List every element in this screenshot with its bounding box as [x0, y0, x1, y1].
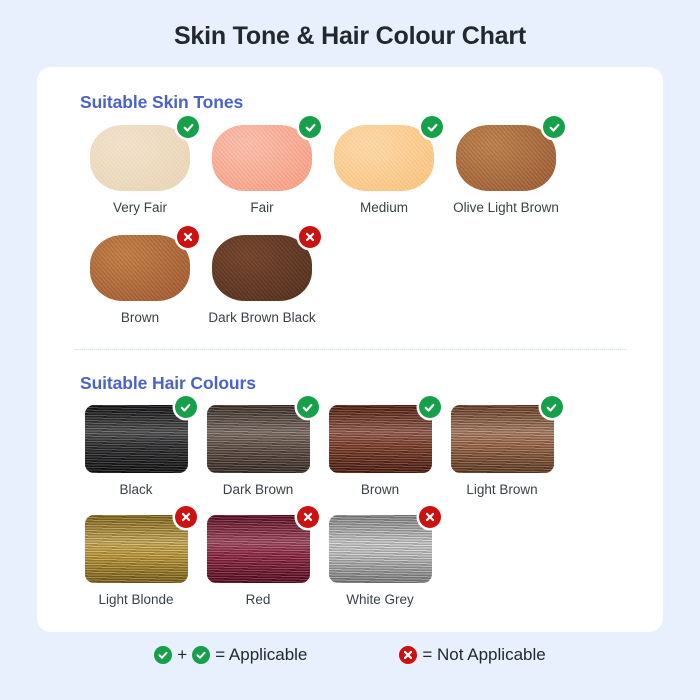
skin-tone-swatch[interactable] [212, 235, 312, 301]
swatch-wrapper [329, 515, 432, 583]
cross-icon [297, 506, 319, 528]
check-icon [543, 116, 565, 138]
swatch-label: Very Fair [113, 200, 167, 215]
check-icon [541, 396, 563, 418]
swatch-wrapper [90, 125, 190, 191]
skin-tone-swatch-cell[interactable]: Olive Light Brown [445, 125, 567, 215]
swatch-label: Medium [360, 200, 408, 215]
swatch-wrapper [90, 235, 190, 301]
chart-page: Skin Tone & Hair Colour Chart Suitable S… [0, 0, 700, 700]
check-icon [297, 396, 319, 418]
hair-colour-swatch[interactable] [85, 515, 188, 583]
hair-colour-swatch-cell[interactable]: Black [75, 405, 197, 497]
legend-applicable: + = Applicable [154, 645, 307, 665]
skin-tone-row-2: BrownDark Brown Black [79, 235, 323, 325]
page-title: Skin Tone & Hair Colour Chart [0, 22, 700, 51]
swatch-wrapper [207, 405, 310, 473]
swatch-label: Olive Light Brown [453, 200, 559, 215]
swatch-label: Brown [121, 310, 159, 325]
swatch-label: Dark Brown Black [208, 310, 315, 325]
swatch-wrapper [334, 125, 434, 191]
cross-icon [399, 646, 417, 664]
swatch-label: Dark Brown [223, 482, 294, 497]
legend-not-applicable-label: = Not Applicable [422, 645, 545, 665]
swatch-label: Brown [361, 482, 399, 497]
hair-colour-row-1: BlackDark BrownBrownLight Brown [75, 405, 563, 497]
hair-colour-swatch[interactable] [85, 405, 188, 473]
swatch-label: Light Blonde [98, 592, 173, 607]
hair-colour-swatch-cell[interactable]: Light Blonde [75, 515, 197, 607]
skin-tone-swatch-cell[interactable]: Very Fair [79, 125, 201, 215]
chart-card: Suitable Skin Tones Very FairFairMediumO… [37, 67, 663, 632]
hair-colour-swatch[interactable] [207, 405, 310, 473]
skin-tone-swatch[interactable] [90, 235, 190, 301]
skin-tone-swatch-cell[interactable]: Fair [201, 125, 323, 215]
hair-colour-swatch[interactable] [207, 515, 310, 583]
cross-icon [299, 226, 321, 248]
hair-colour-swatch-cell[interactable]: Red [197, 515, 319, 607]
swatch-wrapper [451, 405, 554, 473]
skin-tone-swatch-cell[interactable]: Medium [323, 125, 445, 215]
legend: + = Applicable = Not Applicable [0, 645, 700, 665]
section-heading-skin-tones: Suitable Skin Tones [80, 92, 243, 113]
hair-colour-swatch-cell[interactable]: Light Brown [441, 405, 563, 497]
skin-tone-swatch-cell[interactable]: Dark Brown Black [201, 235, 323, 325]
check-icon [299, 116, 321, 138]
section-divider [75, 349, 627, 350]
legend-plus-sign: + [177, 645, 187, 665]
hair-colour-swatch-cell[interactable]: Brown [319, 405, 441, 497]
skin-tone-swatch[interactable] [212, 125, 312, 191]
swatch-wrapper [456, 125, 556, 191]
check-icon [419, 396, 441, 418]
section-heading-hair-colours: Suitable Hair Colours [80, 373, 256, 394]
swatch-label: White Grey [346, 592, 414, 607]
hair-colour-swatch-cell[interactable]: White Grey [319, 515, 441, 607]
skin-tone-swatch-cell[interactable]: Brown [79, 235, 201, 325]
swatch-wrapper [85, 405, 188, 473]
hair-colour-row-2: Light BlondeRedWhite Grey [75, 515, 441, 607]
cross-icon [419, 506, 441, 528]
skin-tone-swatch[interactable] [90, 125, 190, 191]
swatch-label: Black [119, 482, 152, 497]
hair-colour-swatch-cell[interactable]: Dark Brown [197, 405, 319, 497]
check-icon [154, 646, 172, 664]
swatch-label: Fair [250, 200, 273, 215]
skin-tone-row-1: Very FairFairMediumOlive Light Brown [79, 125, 567, 215]
hair-colour-swatch[interactable] [329, 405, 432, 473]
swatch-label: Red [246, 592, 271, 607]
swatch-wrapper [329, 405, 432, 473]
swatch-wrapper [212, 125, 312, 191]
swatch-wrapper [85, 515, 188, 583]
swatch-label: Light Brown [466, 482, 537, 497]
check-icon [192, 646, 210, 664]
hair-colour-swatch[interactable] [329, 515, 432, 583]
check-icon [421, 116, 443, 138]
skin-tone-swatch[interactable] [334, 125, 434, 191]
swatch-wrapper [212, 235, 312, 301]
cross-icon [177, 226, 199, 248]
check-icon [175, 396, 197, 418]
swatch-wrapper [207, 515, 310, 583]
legend-applicable-label: = Applicable [215, 645, 307, 665]
legend-not-applicable: = Not Applicable [399, 645, 545, 665]
check-icon [177, 116, 199, 138]
hair-colour-swatch[interactable] [451, 405, 554, 473]
skin-tone-swatch[interactable] [456, 125, 556, 191]
cross-icon [175, 506, 197, 528]
